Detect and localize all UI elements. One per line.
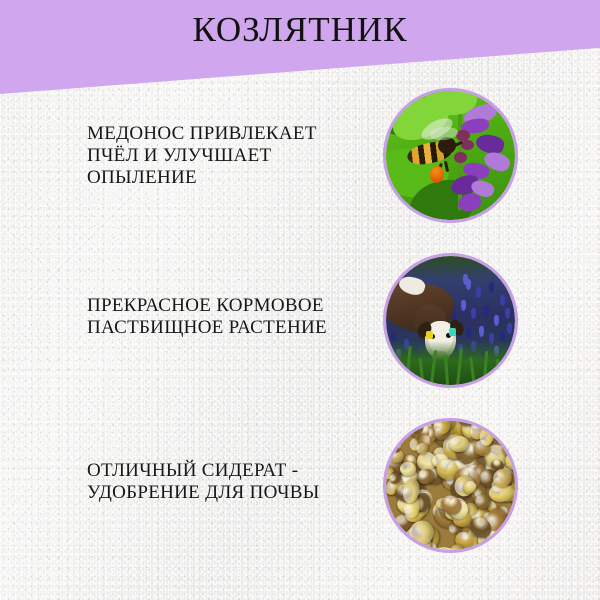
feature-row-1: МЕДОНОС ПРИВЛЕКАЕТ ПЧЁЛ И УЛУЧШАЕТ ОПЫЛЕ… xyxy=(0,88,600,224)
feature-row-2: ПРЕКРАСНОЕ КОРМОВОЕ ПАСТБИЩНОЕ РАСТЕНИЕ xyxy=(0,253,600,389)
feature-text-1-line-2: ПЧЁЛ И УЛУЧШАЕТ xyxy=(87,145,372,167)
feature-text-1-line-3: ОПЫЛЕНИЕ xyxy=(87,167,372,189)
feature-text-3-line-1: ОТЛИЧНЫЙ СИДЕРАТ - xyxy=(87,460,372,482)
legume-seeds-photo xyxy=(383,418,518,553)
cow-ear-tag xyxy=(426,331,433,339)
cow-photo-inner xyxy=(386,256,515,385)
bee-leg xyxy=(444,160,449,171)
feature-text-3: ОТЛИЧНЫЙ СИДЕРАТ - УДОБРЕНИЕ ДЛЯ ПОЧВЫ xyxy=(87,460,372,504)
feature-row-3: ОТЛИЧНЫЙ СИДЕРАТ - УДОБРЕНИЕ ДЛЯ ПОЧВЫ xyxy=(0,418,600,554)
infographic-poster: КОЗЛЯТНИК МЕДОНОС ПРИВЛЕКАЕТ ПЧЁЛ И УЛУЧ… xyxy=(0,0,600,600)
cow-ear-tag xyxy=(449,328,456,336)
feature-text-3-line-2: УДОБРЕНИЕ ДЛЯ ПОЧВЫ xyxy=(87,482,372,504)
feature-text-1-line-1: МЕДОНОС ПРИВЛЕКАЕТ xyxy=(87,123,372,145)
seeds-photo-inner xyxy=(386,421,515,550)
bee-on-galega-flowers-photo xyxy=(383,88,518,223)
bee-photo-inner xyxy=(386,91,515,220)
feature-text-2-line-2: ПАСТБИЩНОЕ РАСТЕНИЕ xyxy=(87,317,372,339)
flower-bud xyxy=(454,152,467,164)
flower-bud xyxy=(461,140,474,150)
cow-grazing-photo xyxy=(383,253,518,388)
page-title: КОЗЛЯТНИК xyxy=(0,0,600,47)
feature-text-2-line-1: ПРЕКРАСНОЕ КОРМОВОЕ xyxy=(87,295,372,317)
feature-text-1: МЕДОНОС ПРИВЛЕКАЕТ ПЧЁЛ И УЛУЧШАЕТ ОПЫЛЕ… xyxy=(87,123,372,189)
feature-text-2: ПРЕКРАСНОЕ КОРМОВОЕ ПАСТБИЩНОЕ РАСТЕНИЕ xyxy=(87,295,372,339)
